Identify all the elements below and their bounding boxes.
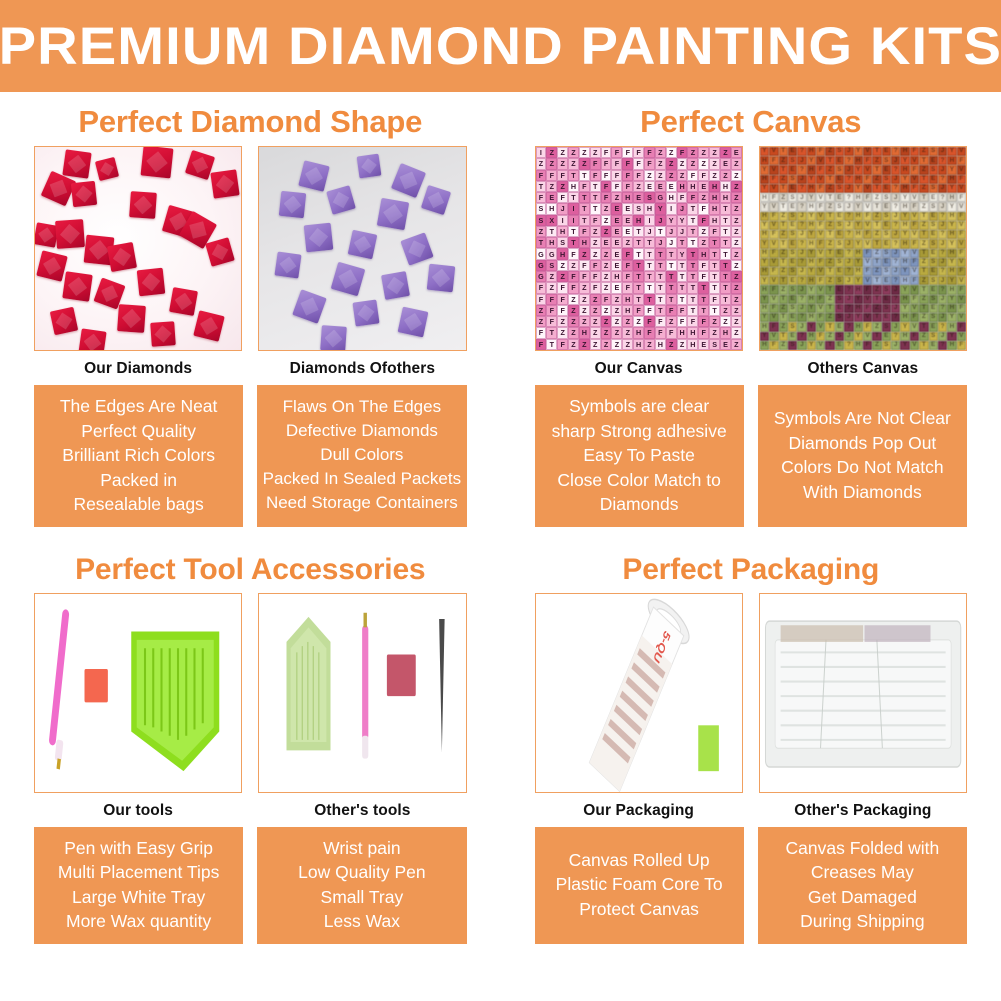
canvas-symbol-cell: Z bbox=[872, 156, 881, 165]
canvas-symbol-cell: F bbox=[611, 158, 622, 169]
caption-other-tools: Other's tools bbox=[314, 793, 410, 827]
canvas-symbol-cell: F bbox=[536, 192, 547, 203]
drill-facet bbox=[41, 254, 64, 277]
canvas-symbol-cell: Z bbox=[825, 221, 834, 230]
canvas-symbol-cell: S bbox=[835, 276, 844, 285]
canvas-symbol-cell: H bbox=[687, 339, 698, 350]
canvas-symbol-cell: H bbox=[854, 322, 863, 331]
canvas-symbol-cell: S bbox=[788, 212, 797, 221]
canvas-symbol-cell: H bbox=[709, 181, 720, 192]
canvas-symbol-cell: V bbox=[769, 332, 778, 341]
canvas-symbol-cell: F bbox=[536, 294, 547, 305]
canvas-symbol-cell: T bbox=[687, 260, 698, 271]
canvas-symbol-cell: F bbox=[601, 181, 612, 192]
canvas-symbol-cell: J bbox=[797, 230, 806, 239]
canvas-symbol-cell: Y bbox=[947, 202, 956, 211]
canvas-symbol-cell: V bbox=[957, 313, 966, 322]
canvas-symbol-cell: Z bbox=[731, 305, 742, 316]
green-tray-icon bbox=[287, 616, 331, 749]
canvas-symbol-cell: Z bbox=[622, 327, 633, 338]
canvas-symbol-cell: V bbox=[769, 276, 778, 285]
canvas-symbol-cell: H bbox=[720, 327, 731, 338]
canvas-symbol-cell: F bbox=[677, 316, 688, 327]
canvas-symbol-cell: F bbox=[557, 170, 568, 181]
canvas-symbol-cell: J bbox=[938, 295, 947, 304]
canvas-symbol-cell: F bbox=[910, 239, 919, 248]
canvas-symbol-cell: S bbox=[788, 322, 797, 331]
canvas-symbol-cell: V bbox=[863, 332, 872, 341]
canvas-symbol-cell: H bbox=[900, 295, 909, 304]
canvas-symbol-cell: E bbox=[882, 202, 891, 211]
canvas-symbol-cell: E bbox=[929, 285, 938, 294]
canvas-symbol-cell: ? bbox=[938, 156, 947, 165]
canvas-symbol-cell: E bbox=[929, 230, 938, 239]
diamond-drill bbox=[357, 154, 382, 179]
canvas-symbol-cell: Z bbox=[601, 215, 612, 226]
canvas-symbol-cell: F bbox=[769, 249, 778, 258]
canvas-symbol-cell: F bbox=[622, 158, 633, 169]
canvas-symbol-cell: S bbox=[882, 156, 891, 165]
canvas-symbol-cell: Z bbox=[825, 239, 834, 248]
canvas-symbol-cell: V bbox=[910, 230, 919, 239]
canvas-symbol-cell: J bbox=[557, 203, 568, 214]
panel-our-packaging: 5-QU Our Packaging bbox=[535, 593, 743, 827]
canvas-symbol-cell: E bbox=[882, 184, 891, 193]
canvas-symbol-cell: F bbox=[816, 221, 825, 230]
canvas-symbol-cell: ? bbox=[797, 202, 806, 211]
canvas-symbol-cell: F bbox=[769, 285, 778, 294]
canvas-symbol-cell: E bbox=[835, 285, 844, 294]
canvas-symbol-cell: H bbox=[854, 249, 863, 258]
drill-facet bbox=[297, 294, 322, 319]
diamond-drill bbox=[293, 289, 328, 324]
canvas-symbol-cell: H bbox=[622, 294, 633, 305]
canvas-symbol-cell: S bbox=[835, 295, 844, 304]
canvas-symbol-cell: H bbox=[900, 332, 909, 341]
infographic-page: PREMIUM DIAMOND PAINTING KITS Perfect Di… bbox=[0, 0, 1001, 1001]
drill-facet bbox=[98, 282, 121, 305]
drill-facet bbox=[141, 271, 162, 292]
canvas-symbol-cell: F bbox=[910, 332, 919, 341]
canvas-symbol-cell: J bbox=[844, 147, 853, 156]
canvas-symbol-cell: F bbox=[769, 304, 778, 313]
line: Colors Do Not Match bbox=[762, 455, 963, 480]
canvas-symbol-cell: J bbox=[666, 226, 677, 237]
canvas-symbol-cell: Z bbox=[731, 282, 742, 293]
canvas-symbol-cell: E bbox=[788, 184, 797, 193]
canvas-symbol-cell: Z bbox=[779, 304, 788, 313]
canvas-symbol-cell: ? bbox=[797, 258, 806, 267]
canvas-symbol-cell: E bbox=[611, 226, 622, 237]
canvas-symbol-cell: V bbox=[816, 249, 825, 258]
canvas-symbol-cell: E bbox=[601, 237, 612, 248]
canvas-symbol-cell: Z bbox=[557, 316, 568, 327]
drill-facet bbox=[215, 174, 236, 195]
canvas-symbol-cell: Z bbox=[601, 248, 612, 259]
canvas-symbol-cell: T bbox=[872, 295, 881, 304]
canvas-symbol-cell: H bbox=[579, 327, 590, 338]
canvas-symbol-cell: F bbox=[536, 170, 547, 181]
canvas-symbol-cell: Z bbox=[687, 147, 698, 158]
canvas-symbol-cell: Z bbox=[655, 158, 666, 169]
canvas-symbol-cell: S bbox=[929, 221, 938, 230]
canvas-symbol-cell: S bbox=[882, 285, 891, 294]
canvas-symbol-cell: J bbox=[844, 313, 853, 322]
canvas-symbol-cell: ? bbox=[844, 267, 853, 276]
canvas-symbol-cell: F bbox=[816, 147, 825, 156]
canvas-symbol-cell: ? bbox=[891, 147, 900, 156]
canvas-symbol-cell: F bbox=[601, 192, 612, 203]
canvas-symbol-cell: Z bbox=[709, 327, 720, 338]
canvas-symbol-cell: E bbox=[633, 192, 644, 203]
canvas-symbol-cell: E bbox=[720, 339, 731, 350]
canvas-symbol-cell: F bbox=[816, 258, 825, 267]
canvas-symbol-cell: T bbox=[872, 239, 881, 248]
canvas-symbol-cell: Z bbox=[644, 339, 655, 350]
canvas-symbol-cell: H bbox=[760, 285, 769, 294]
tweezers-icon bbox=[439, 619, 445, 752]
canvas-symbol-cell: V bbox=[816, 285, 825, 294]
canvas-symbol-cell: F bbox=[957, 322, 966, 331]
canvas-symbol-cell: E bbox=[929, 304, 938, 313]
canvas-symbol-cell: F bbox=[816, 276, 825, 285]
canvas-symbol-cell: J bbox=[938, 165, 947, 174]
canvas-symbol-cell: V bbox=[910, 322, 919, 331]
canvas-symbol-cell: T bbox=[872, 313, 881, 322]
canvas-symbol-cell: F bbox=[579, 260, 590, 271]
canvas-symbol-cell: I bbox=[536, 147, 547, 158]
canvas-symbol-cell: F bbox=[769, 341, 778, 350]
canvas-symbol-cell: F bbox=[769, 212, 778, 221]
canvas-symbol-cell: V bbox=[957, 184, 966, 193]
canvas-symbol-cell: ? bbox=[844, 230, 853, 239]
drill-facet bbox=[307, 227, 328, 248]
canvas-symbol-cell: Z bbox=[568, 260, 579, 271]
canvas-symbol-cell: E bbox=[882, 147, 891, 156]
canvas-symbol-cell: T bbox=[720, 260, 731, 271]
line: Close Color Match to bbox=[539, 468, 740, 493]
canvas-symbol-cell: H bbox=[947, 322, 956, 331]
line: Packed in bbox=[38, 468, 239, 493]
canvas-symbol-cell: E bbox=[835, 341, 844, 350]
diamond-drill bbox=[211, 170, 240, 199]
canvas-symbol-cell: J bbox=[891, 267, 900, 276]
canvas-symbol-cell: F bbox=[769, 267, 778, 276]
canvas-symbol-cell: T bbox=[709, 260, 720, 271]
canvas-symbol-cell: T bbox=[655, 282, 666, 293]
canvas-symbol-cell: Z bbox=[557, 327, 568, 338]
canvas-symbol-cell: T bbox=[546, 339, 557, 350]
canvas-symbol-cell: Y bbox=[900, 249, 909, 258]
canvas-symbol-cell: E bbox=[835, 304, 844, 313]
canvas-symbol-cell: ? bbox=[797, 184, 806, 193]
canvas-symbol-cell: Z bbox=[825, 202, 834, 211]
canvas-symbol-cell: J bbox=[891, 175, 900, 184]
canvas-symbol-cell: E bbox=[835, 212, 844, 221]
line: Protect Canvas bbox=[539, 897, 740, 922]
canvas-symbol-cell: Z bbox=[825, 313, 834, 322]
canvas-symbol-cell: T bbox=[633, 260, 644, 271]
canvas-symbol-cell: V bbox=[769, 221, 778, 230]
canvas-symbol-cell: T bbox=[644, 271, 655, 282]
canvas-symbol-cell: H bbox=[760, 212, 769, 221]
canvas-symbol-cell: Y bbox=[760, 258, 769, 267]
canvas-symbol-cell: E bbox=[611, 260, 622, 271]
canvas-symbol-cell: J bbox=[938, 313, 947, 322]
canvas-symbol-cell: F bbox=[698, 316, 709, 327]
canvas-symbol-cell: Y bbox=[760, 184, 769, 193]
canvas-symbol-cell: Z bbox=[919, 332, 928, 341]
canvas-symbol-cell: ? bbox=[938, 341, 947, 350]
canvas-symbol-cell: V bbox=[816, 212, 825, 221]
canvas-symbol-cell: Z bbox=[825, 165, 834, 174]
canvas-symbol-cell: T bbox=[709, 248, 720, 259]
canvas-symbol-cell: H bbox=[760, 267, 769, 276]
canvas-symbol-cell: T bbox=[825, 285, 834, 294]
canvas-symbol-cell: S bbox=[835, 239, 844, 248]
canvas-symbol-cell: Z bbox=[731, 260, 742, 271]
canvas-symbol-cell: T bbox=[825, 249, 834, 258]
canvas-symbol-cell: F bbox=[910, 258, 919, 267]
canvas-symbol-cell: T bbox=[720, 237, 731, 248]
canvas-symbol-cell: Z bbox=[731, 215, 742, 226]
canvas-symbol-cell: Y bbox=[854, 202, 863, 211]
canvas-symbol-cell: H bbox=[807, 295, 816, 304]
caption-other-packaging: Other's Packaging bbox=[794, 793, 931, 827]
canvas-symbol-cell: Y bbox=[807, 267, 816, 276]
canvas-symbol-cell: Z bbox=[611, 294, 622, 305]
canvas-symbol-cell: S bbox=[633, 203, 644, 214]
canvas-symbol-cell: S bbox=[929, 147, 938, 156]
canvas-symbol-cell: S bbox=[882, 304, 891, 313]
line: Wrist pain bbox=[261, 836, 462, 861]
canvas-symbol-cell: F bbox=[579, 181, 590, 192]
canvas-symbol-cell: Z bbox=[731, 327, 742, 338]
canvas-symbol-cell: T bbox=[687, 203, 698, 214]
canvas-symbol-cell: Z bbox=[622, 316, 633, 327]
section-title-canvas: Perfect Canvas bbox=[501, 92, 1001, 146]
canvas-symbol-cell: T bbox=[687, 248, 698, 259]
canvas-symbol-cell: T bbox=[687, 271, 698, 282]
panel-our-diamonds: Our Diamonds bbox=[34, 146, 242, 385]
canvas-symbol-cell: E bbox=[611, 237, 622, 248]
canvas-symbol-cell: ? bbox=[891, 239, 900, 248]
canvas-symbol-cell: Z bbox=[731, 316, 742, 327]
wax-square-icon bbox=[85, 669, 108, 702]
canvas-symbol-cell: T bbox=[536, 181, 547, 192]
canvas-symbol-cell: F bbox=[769, 193, 778, 202]
canvas-symbol-cell: E bbox=[929, 322, 938, 331]
canvas-symbol-cell: Z bbox=[644, 170, 655, 181]
canvas-symbol-cell: H bbox=[854, 175, 863, 184]
canvas-symbol-cell: F bbox=[644, 147, 655, 158]
canvas-symbol-cell: Z bbox=[919, 313, 928, 322]
canvas-symbol-cell: T bbox=[687, 305, 698, 316]
canvas-symbol-cell: Y bbox=[947, 258, 956, 267]
textbox-other-diamonds: Flaws On The Edges Defective Diamonds Du… bbox=[257, 385, 466, 527]
canvas-symbol-cell: F bbox=[655, 316, 666, 327]
caption-our-canvas: Our Canvas bbox=[595, 351, 683, 385]
canvas-symbol-cell: V bbox=[863, 313, 872, 322]
canvas-symbol-cell: T bbox=[919, 249, 928, 258]
canvas-symbol-cell: I bbox=[568, 203, 579, 214]
canvas-symbol-cell: F bbox=[957, 341, 966, 350]
canvas-symbol-cell: S bbox=[929, 184, 938, 193]
canvas-symbol-cell: J bbox=[938, 332, 947, 341]
canvas-symbol-cell: F bbox=[957, 230, 966, 239]
canvas-symbol-cell: S bbox=[882, 249, 891, 258]
canvas-symbol-cell: F bbox=[863, 175, 872, 184]
canvas-symbol-cell: E bbox=[698, 181, 709, 192]
canvas-symbol-cell: H bbox=[677, 181, 688, 192]
canvas-symbol-cell: F bbox=[622, 248, 633, 259]
diamond-drill bbox=[71, 180, 97, 206]
canvas-symbol-cell: F bbox=[633, 158, 644, 169]
drill-facet bbox=[401, 311, 423, 333]
canvas-symbol-cell: F bbox=[666, 305, 677, 316]
canvas-symbol-cell: ? bbox=[891, 165, 900, 174]
diamond-drill bbox=[298, 160, 330, 192]
canvas-symbol-cell: V bbox=[910, 249, 919, 258]
canvas-symbol-cell: ? bbox=[797, 239, 806, 248]
canvas-symbol-cell: H bbox=[947, 230, 956, 239]
canvas-symbol-cell: Z bbox=[579, 147, 590, 158]
canvas-symbol-cell: Y bbox=[900, 267, 909, 276]
canvas-symbol-cell: Y bbox=[854, 258, 863, 267]
canvas-symbol-cell: ? bbox=[844, 175, 853, 184]
canvas-symbol-cell: S bbox=[929, 202, 938, 211]
canvas-symbol-cell: T bbox=[568, 226, 579, 237]
canvas-symbol-cell: S bbox=[835, 258, 844, 267]
drill-facet bbox=[189, 154, 211, 176]
canvas-symbol-cell: V bbox=[769, 295, 778, 304]
canvas-symbol-cell: Y bbox=[854, 165, 863, 174]
canvas-symbol-cell: H bbox=[666, 192, 677, 203]
canvas-symbol-cell: Z bbox=[919, 239, 928, 248]
canvas-symbol-cell: E bbox=[788, 258, 797, 267]
canvas-symbol-cell: Z bbox=[579, 294, 590, 305]
canvas-symbol-cell: ? bbox=[797, 221, 806, 230]
canvas-symbol-cell: E bbox=[882, 221, 891, 230]
line: Small Tray bbox=[261, 885, 462, 910]
canvas-symbol-cell: ? bbox=[844, 341, 853, 350]
canvas-symbol-cell: V bbox=[769, 239, 778, 248]
canvas-symbol-cell: Z bbox=[919, 295, 928, 304]
canvas-symbol-cell: Z bbox=[779, 193, 788, 202]
canvas-symbol-cell: F bbox=[698, 203, 709, 214]
canvas-symbol-cell: T bbox=[919, 304, 928, 313]
canvas-symbol-cell: H bbox=[900, 221, 909, 230]
canvas-symbol-cell: T bbox=[655, 226, 666, 237]
canvas-symbol-cell: E bbox=[611, 248, 622, 259]
canvas-symbol-cell: S bbox=[788, 175, 797, 184]
canvas-symbol-cell: Y bbox=[854, 239, 863, 248]
canvas-symbol-cell: T bbox=[655, 294, 666, 305]
canvas-symbol-cell: T bbox=[633, 248, 644, 259]
canvas-symbol-cell: S bbox=[788, 193, 797, 202]
canvas-symbol-cell: T bbox=[709, 282, 720, 293]
canvas-symbol-cell: F bbox=[611, 181, 622, 192]
canvas-symbol-cell: T bbox=[666, 282, 677, 293]
canvas-symbol-cell: F bbox=[622, 181, 633, 192]
line: Brilliant Rich Colors bbox=[38, 443, 239, 468]
canvas-symbol-cell: T bbox=[698, 294, 709, 305]
canvas-symbol-cell: ? bbox=[844, 156, 853, 165]
canvas-symbol-cell: T bbox=[825, 304, 834, 313]
canvas-symbol-cell: V bbox=[769, 184, 778, 193]
image-our-tools bbox=[34, 593, 242, 793]
canvas-symbol-cell: V bbox=[863, 239, 872, 248]
canvas-symbol-cell: ? bbox=[938, 212, 947, 221]
canvas-symbol-cell: E bbox=[788, 165, 797, 174]
canvas-symbol-cell: J bbox=[797, 285, 806, 294]
canvas-symbol-cell: Z bbox=[601, 260, 612, 271]
canvas-symbol-cell: H bbox=[900, 184, 909, 193]
canvas-symbol-cell: Y bbox=[854, 184, 863, 193]
canvas-symbol-cell: E bbox=[788, 147, 797, 156]
canvas-symbol-cell: V bbox=[957, 258, 966, 267]
canvas-symbol-cell: S bbox=[536, 215, 547, 226]
canvas-symbol-cell: V bbox=[863, 276, 872, 285]
canvas-symbol-cell: Y bbox=[900, 175, 909, 184]
canvas-symbol-cell: ? bbox=[844, 212, 853, 221]
canvas-symbol-cell: Z bbox=[611, 305, 622, 316]
canvas-symbol-cell: F bbox=[557, 294, 568, 305]
canvas-symbol-cell: Z bbox=[601, 203, 612, 214]
canvas-symbol-cell: H bbox=[947, 249, 956, 258]
line: The Edges Are Neat bbox=[38, 394, 239, 419]
canvas-symbol-cell: T bbox=[687, 282, 698, 293]
canvas-symbol-cell: X bbox=[546, 215, 557, 226]
diamond-drill bbox=[327, 185, 357, 215]
canvas-symbol-cell: Z bbox=[872, 341, 881, 350]
canvas-symbol-cell: E bbox=[929, 267, 938, 276]
canvas-symbol-cell: H bbox=[807, 147, 816, 156]
canvas-symbol-cell: Z bbox=[731, 237, 742, 248]
canvas-symbol-cell: T bbox=[825, 322, 834, 331]
textbox-other-tools: Wrist pain Low Quality Pen Small Tray Le… bbox=[257, 827, 466, 944]
canvas-symbol-cell: S bbox=[882, 341, 891, 350]
canvas-symbol-cell: T bbox=[579, 192, 590, 203]
canvas-symbol-cell: F bbox=[633, 147, 644, 158]
drill-facet bbox=[46, 176, 72, 202]
canvas-symbol-cell: J bbox=[797, 267, 806, 276]
line: Defective Diamonds bbox=[261, 419, 462, 443]
canvas-symbol-cell: F bbox=[863, 156, 872, 165]
canvas-symbol-cell: Y bbox=[900, 212, 909, 221]
canvas-symbol-cell: F bbox=[590, 271, 601, 282]
canvas-symbol-cell: Z bbox=[720, 170, 731, 181]
canvas-symbol-cell: H bbox=[854, 212, 863, 221]
canvas-symbol-cell: Z bbox=[779, 267, 788, 276]
canvas-symbol-cell: Y bbox=[900, 285, 909, 294]
canvas-symbol-cell: J bbox=[677, 203, 688, 214]
line: Resealable bags bbox=[38, 492, 239, 517]
diamond-drill bbox=[62, 271, 92, 301]
canvas-symbol-cell: Y bbox=[760, 147, 769, 156]
canvas-symbol-cell: F bbox=[769, 230, 778, 239]
canvas-symbol-cell: T bbox=[536, 237, 547, 248]
canvas-symbol-cell: S bbox=[929, 239, 938, 248]
caption-others-canvas: Others Canvas bbox=[808, 351, 919, 385]
canvas-symbol-cell: J bbox=[938, 221, 947, 230]
canvas-symbol-cell: F bbox=[769, 322, 778, 331]
canvas-symbol-cell: H bbox=[633, 327, 644, 338]
canvas-symbol-cell: H bbox=[854, 304, 863, 313]
canvas-symbol-cell: H bbox=[644, 203, 655, 214]
line: Flaws On The Edges bbox=[261, 395, 462, 419]
canvas-symbol-cell: F bbox=[910, 147, 919, 156]
